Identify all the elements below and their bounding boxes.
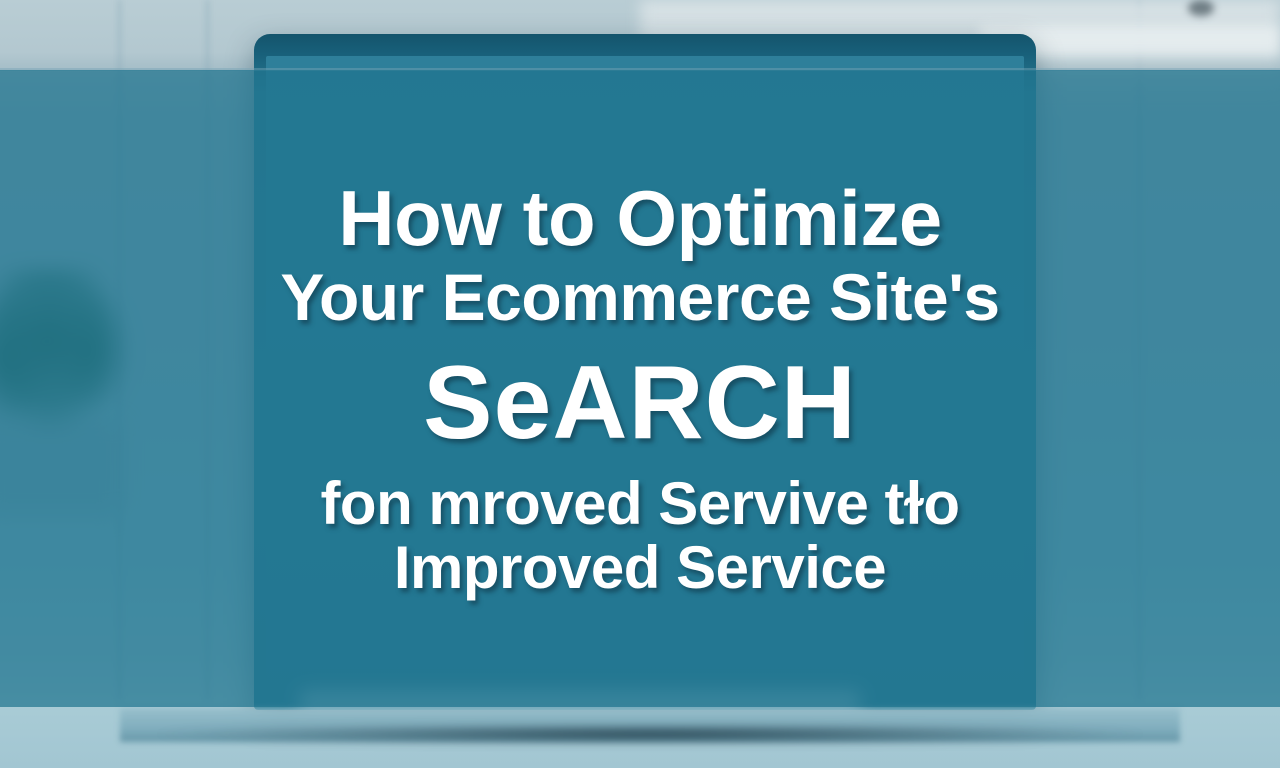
headline-line-2: Your Ecommerce Site's — [280, 264, 999, 332]
headline-line-3-search: SeARCH — [423, 350, 857, 457]
headline-line-4-garbled: fon mroved Servive tɫo — [320, 473, 959, 535]
headline-line-5: Improved Service — [394, 537, 886, 599]
background-speck — [1188, 0, 1214, 16]
banner-image: How to Optimize Your Ecommerce Site's Se… — [0, 0, 1280, 768]
headline-block: How to Optimize Your Ecommerce Site's Se… — [0, 70, 1280, 707]
headline-line-1: How to Optimize — [338, 178, 941, 258]
laptop-shadow — [150, 726, 1150, 742]
